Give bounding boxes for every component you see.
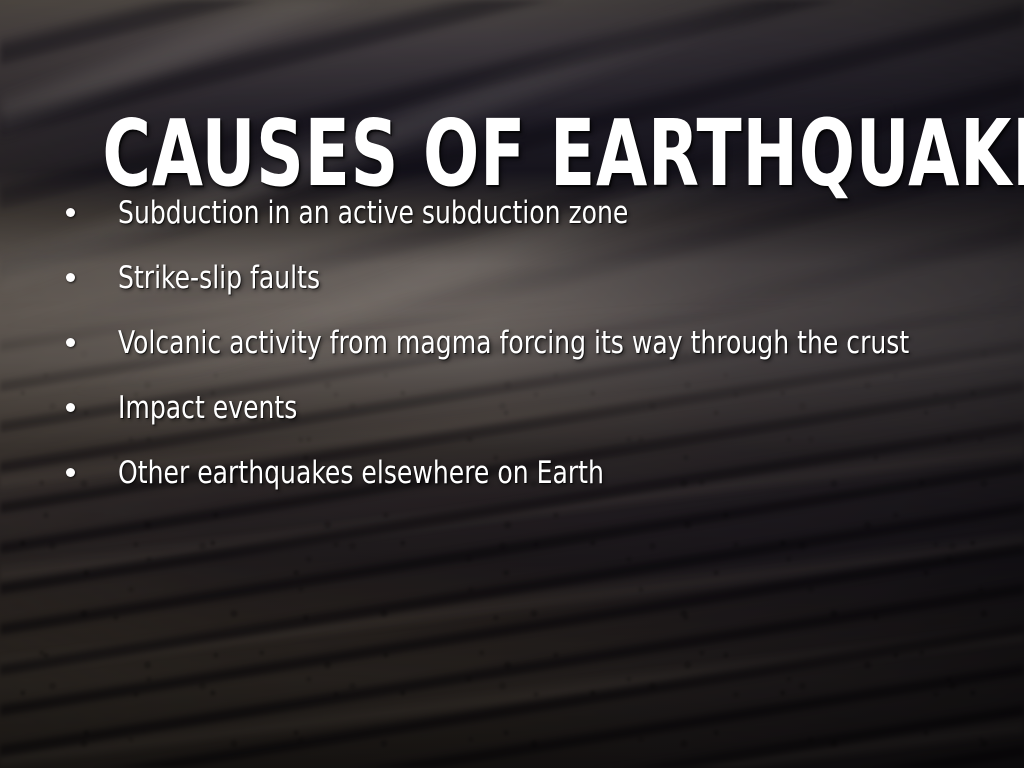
bullet-point-icon (66, 273, 75, 282)
bullet-text: Volcanic activity from magma forcing its… (118, 326, 909, 360)
bullet-point-icon (66, 403, 75, 412)
list-item: Other earthquakes elsewhere on Earth (0, 456, 1024, 521)
list-item: Volcanic activity from magma forcing its… (0, 326, 1024, 391)
bullet-point-icon (66, 208, 75, 217)
bullet-text: Strike-slip faults (118, 261, 320, 295)
list-item: Impact events (0, 391, 1024, 456)
bullet-point-icon (66, 468, 75, 477)
slide-title: Causes of Earthquakes (102, 108, 921, 200)
bullet-text: Subduction in an active subduction zone (118, 196, 628, 230)
list-item: Strike-slip faults (0, 261, 1024, 326)
slide-content: Causes of Earthquakes Subduction in an a… (0, 0, 1024, 768)
list-item: Subduction in an active subduction zone (0, 196, 1024, 261)
bullet-list: Subduction in an active subduction zone … (0, 196, 1024, 521)
bullet-point-icon (66, 338, 75, 347)
bullet-text: Impact events (118, 391, 297, 425)
presentation-slide: Causes of Earthquakes Subduction in an a… (0, 0, 1024, 768)
bullet-text: Other earthquakes elsewhere on Earth (118, 456, 604, 490)
